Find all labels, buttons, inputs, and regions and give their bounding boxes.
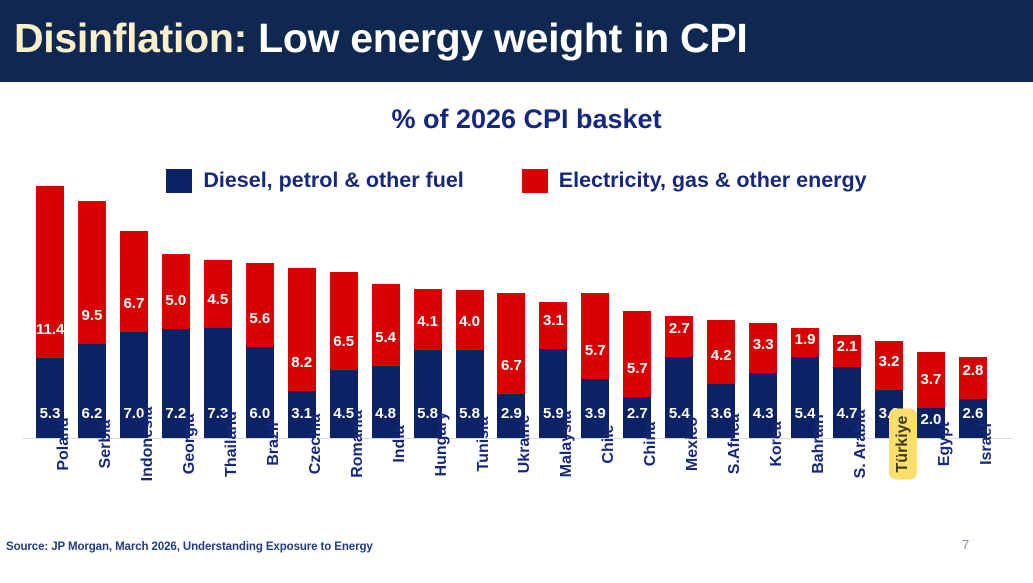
bar-segment-electricity: 6.5	[330, 272, 358, 370]
bar-segment-electricity: 4.2	[707, 320, 735, 383]
chart-title: % of 2026 CPI basket	[0, 104, 1033, 135]
bar-stack: 9.56.2	[78, 201, 106, 438]
x-axis-label-text: Thailand	[218, 411, 246, 477]
page-title: Disinflation: Low energy weight in CPI	[14, 7, 747, 69]
bar-value-label: 4.8	[372, 406, 400, 421]
bar-segment-electricity: 9.5	[78, 201, 106, 344]
bar-segment-electricity: 6.7	[120, 231, 148, 332]
x-axis-label-text: Georgia	[176, 414, 204, 474]
bar-stack: 5.66.0	[246, 263, 274, 438]
bar-segment-electricity: 5.6	[246, 263, 274, 348]
bar-value-label: 5.7	[581, 343, 609, 358]
x-axis-label-text: China	[637, 422, 665, 466]
x-axis-label-text: Indonesia	[134, 407, 162, 482]
x-axis-label-romania: Romania	[330, 441, 358, 537]
bar-value-label: 2.7	[665, 321, 693, 336]
x-axis-category-labels: PolandSerbiaIndonesiaGeorgiaThailandBraz…	[22, 441, 1012, 539]
bar-value-label: 4.2	[707, 348, 735, 363]
bar-stack: 11.45.3	[36, 186, 64, 438]
x-axis-label-georgia: Georgia	[162, 441, 190, 537]
x-axis-label-text: Brazil	[260, 422, 288, 466]
bar-segment-electricity: 5.4	[372, 284, 400, 365]
bar-segment-electricity: 5.7	[623, 311, 651, 397]
bar-value-label: 2.1	[833, 339, 861, 354]
x-axis-label-text: Bahrain	[805, 414, 833, 474]
bar-segment-electricity: 4.5	[204, 260, 232, 328]
bar-segment-electricity: 5.7	[581, 293, 609, 379]
x-axis-label-india: India	[372, 441, 400, 537]
bar-value-label: 4.3	[749, 406, 777, 421]
x-axis-label-text: Chile	[595, 424, 623, 463]
bar-value-label: 6.7	[120, 296, 148, 311]
x-axis-label-egypt: Egypt	[917, 441, 945, 537]
x-axis-label-czechia: Czechia	[288, 441, 316, 537]
source-note: Source: JP Morgan, March 2026, Understan…	[6, 541, 373, 553]
x-axis-label-poland: Poland	[36, 441, 64, 537]
x-axis-label-text: Egypt	[931, 422, 959, 466]
bar-stack: 5.72.7	[623, 311, 651, 438]
x-axis-label-tunisia: Tunisia	[456, 441, 484, 537]
bar-value-label: 3.2	[875, 354, 903, 369]
x-axis-label-serbia: Serbia	[78, 441, 106, 537]
bar-value-label: 6.0	[246, 406, 274, 421]
bar-value-label: 3.7	[917, 372, 945, 387]
bar-value-label: 2.6	[959, 406, 987, 421]
x-axis-label-bahrain: Bahrain	[791, 441, 819, 537]
slide-root: Disinflation: Low energy weight in CPI %…	[0, 0, 1033, 583]
bar-segment-electricity: 4.1	[414, 289, 442, 351]
bar-segment-electricity: 3.1	[539, 302, 567, 349]
x-axis-label-text: Israel	[973, 423, 1001, 465]
bar-segment-electricity: 2.7	[665, 316, 693, 357]
bar-stack: 5.07.2	[162, 254, 190, 438]
x-axis-label-indonesia: Indonesia	[120, 441, 148, 537]
x-axis-label-text: Mexico	[679, 417, 707, 471]
chart-plot-area: 11.45.39.56.26.77.05.07.24.57.35.66.08.2…	[22, 186, 1012, 438]
x-axis-label-brazil: Brazil	[246, 441, 274, 537]
x-axis-label-mexico: Mexico	[665, 441, 693, 537]
x-axis-label-s-africa: S.Africa	[707, 441, 735, 537]
bar-value-label: 2.8	[959, 363, 987, 378]
x-axis-label-text: Hungary	[428, 412, 456, 477]
bar-segment-electricity: 6.7	[497, 293, 525, 394]
x-axis-label-text: Türkiye	[889, 409, 917, 480]
page-title-lead: Disinflation:	[14, 15, 247, 61]
bar-value-label: 11.4	[36, 322, 64, 337]
x-axis-label-israel: Israel	[959, 441, 987, 537]
x-axis-label-text: Korea	[763, 421, 791, 466]
bar-value-label: 3.9	[581, 406, 609, 421]
x-axis-label-t-rkiye: Türkiye	[875, 441, 903, 537]
bar-value-label: 3.3	[749, 337, 777, 352]
x-axis-label-text: Czechia	[302, 414, 330, 474]
x-axis-label-text: Serbia	[92, 420, 120, 469]
bar-value-label: 4.1	[414, 314, 442, 329]
bar-value-label: 2.7	[623, 406, 651, 421]
bar-segment-electricity: 3.2	[875, 341, 903, 389]
x-axis-label-s-arabia: S. Arabia	[833, 441, 861, 537]
bar-segment-electricity: 1.9	[791, 328, 819, 357]
x-axis-label-chile: Chile	[581, 441, 609, 537]
bar-value-label: 6.7	[497, 358, 525, 373]
bar-value-label: 6.5	[330, 334, 358, 349]
x-axis-label-ukraine: Ukraine	[497, 441, 525, 537]
x-axis-label-text: Poland	[50, 417, 78, 470]
x-axis-label-text: S. Arabia	[847, 410, 875, 479]
x-axis-label-text: Ukraine	[511, 415, 539, 474]
x-axis-label-text: Tunisia	[470, 417, 498, 472]
bar-value-label: 1.9	[791, 332, 819, 347]
bar-value-label: 5.7	[623, 361, 651, 376]
slide-title-bar: Disinflation: Low energy weight in CPI	[0, 0, 1033, 82]
bar-value-label: 5.4	[372, 330, 400, 345]
bar-value-label: 8.2	[288, 355, 316, 370]
bar-value-label: 5.0	[162, 293, 190, 308]
x-axis-label-text: Romania	[344, 410, 372, 478]
bar-segment-electricity: 2.1	[833, 335, 861, 367]
bar-value-label: 4.5	[204, 292, 232, 307]
bar-segment-electricity: 8.2	[288, 268, 316, 392]
bar-segment-electricity: 3.7	[917, 352, 945, 408]
x-axis-label-text: Malaysia	[553, 411, 581, 478]
bar-stack: 5.44.8	[372, 284, 400, 438]
bar-value-label: 4.0	[456, 314, 484, 329]
bar-segment-electricity: 3.3	[749, 323, 777, 373]
page-number: 7	[962, 537, 969, 552]
bar-segment-electricity: 4.0	[456, 290, 484, 350]
page-title-rest: Low energy weight in CPI	[247, 15, 748, 61]
bar-value-label: 3.1	[539, 313, 567, 328]
x-axis-label-china: China	[623, 441, 651, 537]
x-axis-label-korea: Korea	[749, 441, 777, 537]
bar-segment-electricity: 2.8	[959, 357, 987, 399]
x-axis-label-hungary: Hungary	[414, 441, 442, 537]
bar-stack: 5.73.9	[581, 293, 609, 438]
x-axis-label-text: S.Africa	[721, 414, 749, 474]
bar-segment-electricity: 11.4	[36, 186, 64, 358]
x-axis-label-malaysia: Malaysia	[539, 441, 567, 537]
x-axis-label-thailand: Thailand	[204, 441, 232, 537]
bar-value-label: 5.6	[246, 311, 274, 326]
bar-value-label: 9.5	[78, 308, 106, 323]
bar-stack: 8.23.1	[288, 268, 316, 439]
x-axis-label-text: India	[386, 425, 414, 462]
bar-segment-electricity: 5.0	[162, 254, 190, 329]
chart-title-text: % of 2026 CPI basket	[391, 104, 661, 134]
